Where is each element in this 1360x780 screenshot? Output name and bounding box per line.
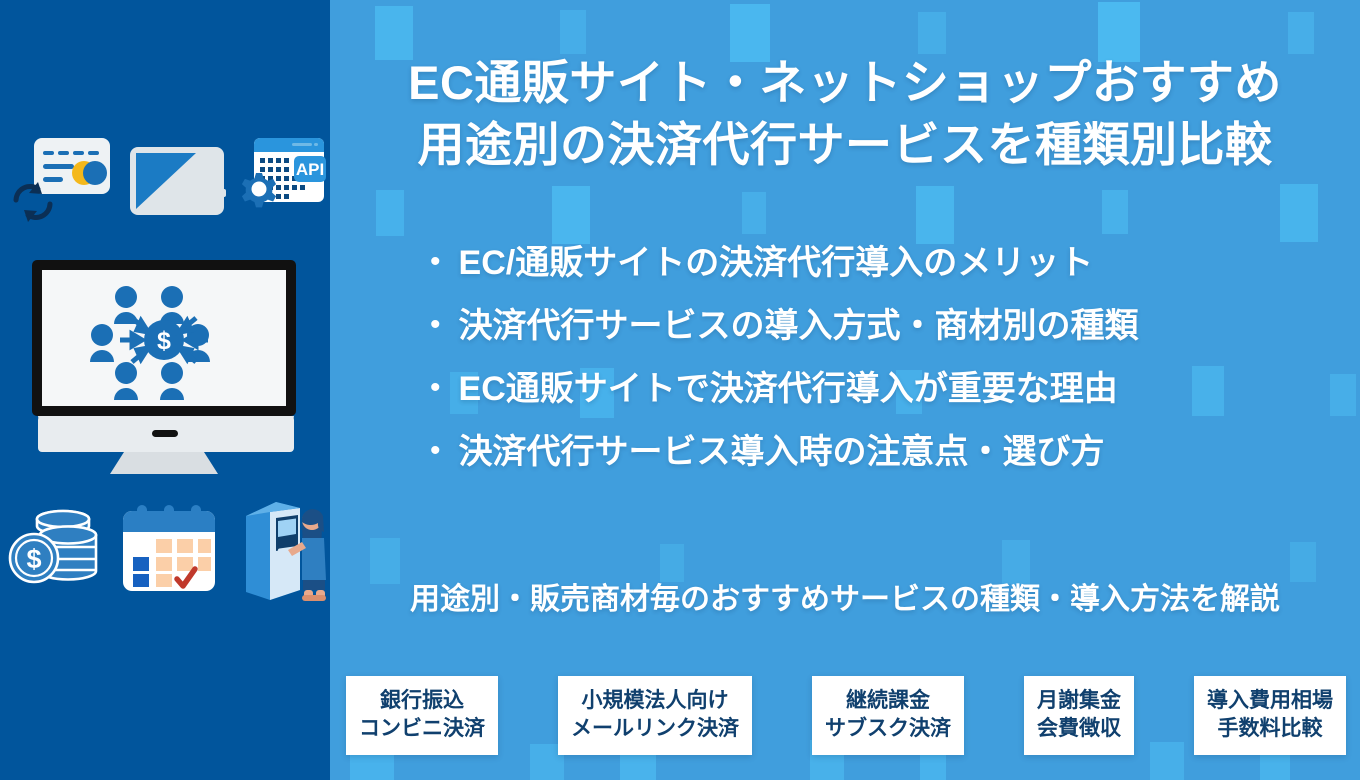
- list-item: • 決済代行サービス導入時の注意点・選び方: [330, 435, 1360, 498]
- coin-dollar-symbol: $: [26, 544, 41, 574]
- recurring-billing-calendar-icon: [117, 505, 221, 593]
- tag-monthly-fee: 月謝集金 会費徴収: [1024, 676, 1134, 755]
- bullet-dot-icon: •: [430, 436, 441, 466]
- tag-line-1: 銀行振込: [359, 687, 485, 715]
- subtitle: 用途別・販売商材毎のおすすめサービスの種類・導入方法を解説: [330, 585, 1360, 615]
- tag-small-business: 小規模法人向け メールリンク決済: [558, 676, 752, 755]
- list-item: • 決済代行サービスの導入方式・商材別の種類: [330, 309, 1360, 372]
- api-integration-icon: API: [240, 136, 326, 216]
- banner-root: API: [0, 0, 1360, 780]
- online-payment-network-icon: $: [28, 258, 300, 476]
- credit-card-recurring-icon: [12, 130, 116, 230]
- tag-line-1: 継続課金: [825, 687, 951, 715]
- bullet-dot-icon: •: [430, 373, 441, 403]
- list-item-label: EC/通販サイトの決済代行導入のメリット: [459, 246, 1094, 280]
- page-title: EC通販サイト・ネットショップおすすめ 用途別の決済代行サービスを種類別比較: [330, 52, 1360, 175]
- content-panel: EC通販サイト・ネットショップおすすめ 用途別の決済代行サービスを種類別比較 •…: [330, 0, 1360, 780]
- tag-line-1: 月謝集金: [1037, 687, 1121, 715]
- list-item-label: EC通販サイトで決済代行導入が重要な理由: [459, 372, 1118, 406]
- tag-line-1: 導入費用相場: [1207, 687, 1333, 715]
- tag-row: 銀行振込 コンビニ決済 小規模法人向け メールリンク決済 継続課金 サブスク決済…: [346, 676, 1346, 755]
- bullet-dot-icon: •: [430, 247, 441, 277]
- atm-kiosk-icon: [240, 494, 328, 604]
- payment-card-icon: [128, 145, 226, 217]
- tag-bank-transfer: 銀行振込 コンビニ決済: [346, 676, 498, 755]
- tag-line-1: 小規模法人向け: [571, 687, 739, 715]
- list-item: • EC/通販サイトの決済代行導入のメリット: [330, 246, 1360, 309]
- title-line-2: 用途別の決済代行サービスを種類別比較: [330, 114, 1360, 176]
- left-illustration-panel: API: [0, 0, 330, 780]
- tag-line-2: 会費徴収: [1037, 715, 1121, 743]
- list-item-label: 決済代行サービスの導入方式・商材別の種類: [459, 309, 1139, 343]
- api-badge-label: API: [296, 160, 324, 179]
- monitor-dollar-symbol: $: [157, 327, 171, 355]
- tag-line-2: 手数料比較: [1207, 715, 1333, 743]
- tag-line-2: サブスク決済: [825, 715, 951, 743]
- bullet-dot-icon: •: [430, 310, 441, 340]
- list-item-label: 決済代行サービス導入時の注意点・選び方: [459, 435, 1105, 469]
- bullet-list: • EC/通販サイトの決済代行導入のメリット • 決済代行サービスの導入方式・商…: [330, 246, 1360, 498]
- tag-subscription: 継続課金 サブスク決済: [812, 676, 964, 755]
- title-line-1: EC通販サイト・ネットショップおすすめ: [330, 52, 1360, 114]
- list-item: • EC通販サイトで決済代行導入が重要な理由: [330, 372, 1360, 435]
- coins-stack-icon: $: [8, 503, 100, 593]
- tag-line-2: コンビニ決済: [359, 715, 485, 743]
- tag-cost-comparison: 導入費用相場 手数料比較: [1194, 676, 1346, 755]
- tag-line-2: メールリンク決済: [571, 715, 739, 743]
